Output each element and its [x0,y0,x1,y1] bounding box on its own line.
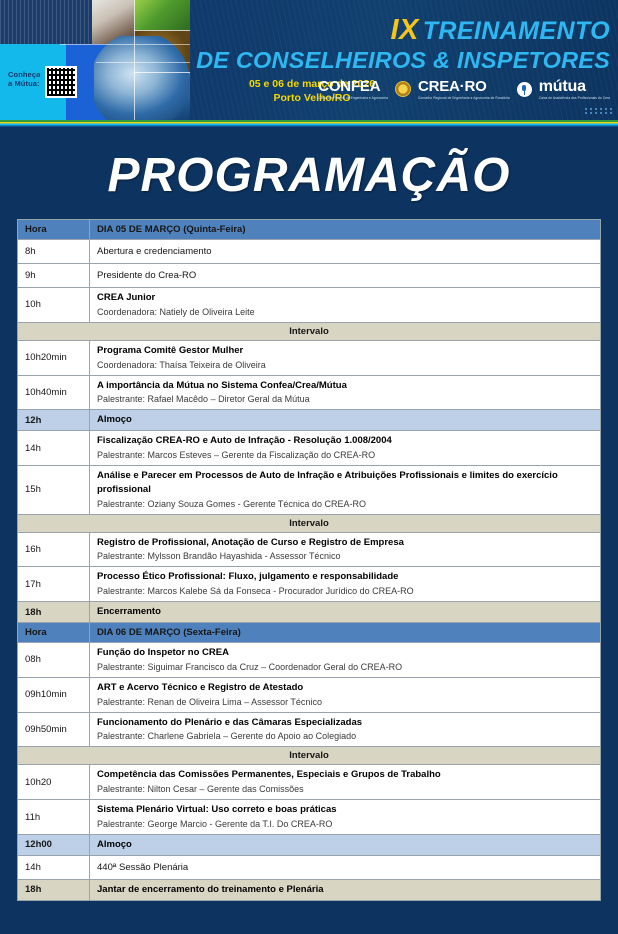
mutua-logo: mútua Caixa de Assistência dos Profissio… [539,78,610,100]
schedule-row-speaker: Palestrante: Renan de Oliveira Lima – As… [97,696,593,709]
schedule-row-content: Funcionamento do Plenário e das Câmaras … [90,712,601,747]
schedule-row-content: Abertura e credenciamento [90,240,601,264]
mutua-call-to-action: Conheça a Mútua: [8,70,40,89]
mutua-cta-line-2: a Mútua: [8,79,40,88]
schedule-row: 9hPresidente do Crea-RO [18,264,601,288]
schedule-row-time: 09h50min [18,712,90,747]
schedule-day-header: HoraDIA 05 DE MARÇO (Quinta-Feira) [18,220,601,240]
schedule-row-content: Sistema Plenário Virtual: Uso correto e … [90,800,601,835]
schedule-row: 14h 440ª Sessão Plenária [18,855,601,879]
schedule-row: 14hFiscalização CREA-RO e Auto de Infraç… [18,431,601,466]
schedule-row-content: Fiscalização CREA-RO e Auto de Infração … [90,431,601,466]
qr-code[interactable] [45,66,77,98]
schedule-row-content: Encerramento [90,602,601,623]
banner-color-stripe [0,120,618,127]
confea-logo: CONFEA Conselho Federal de Engenharia e … [318,78,388,100]
schedule-row-speaker: Coordenadora: Thaísa Teixeira de Oliveir… [97,359,593,372]
crearo-logo: CREA·RO Conselho Regional de Engenharia … [418,78,510,100]
schedule-row: 12hAlmoço [18,410,601,431]
collage-divider-line-3 [134,30,190,31]
schedule-row: 18hEncerramento [18,602,601,623]
schedule-row-content: CREA JuniorCoordenadora: Natiely de Oliv… [90,288,601,323]
schedule-row: 10h40minA importância da Mútua no Sistem… [18,375,601,410]
schedule-row-speaker: Coordenadora: Natiely de Oliveira Leite [97,306,593,319]
schedule-row-title: Competência das Comissões Permanentes, E… [97,768,593,782]
schedule-row-speaker: Palestrante: George Marcio - Gerente da … [97,818,593,831]
schedule-break-row: Intervalo [18,514,601,532]
crearo-logo-subtitle: Conselho Regional de Engenharia e Agrono… [418,96,510,100]
schedule-row-time: 18h [18,879,90,900]
schedule-row-title: Funcionamento do Plenário e das Câmaras … [97,716,593,730]
schedule-row-title: Almoço [97,838,593,852]
decorative-dots [585,108,613,114]
schedule-row-title: Sistema Plenário Virtual: Uso correto e … [97,803,593,817]
mutua-logo-text: mútua [539,78,586,95]
day-header-title: DIA 06 DE MARÇO (Sexta-Feira) [90,622,601,642]
schedule-row-time: 10h20 [18,765,90,800]
collage-hatch-panel [0,0,92,44]
schedule-body: HoraDIA 05 DE MARÇO (Quinta-Feira)8hAber… [18,220,601,901]
schedule-row-title: Função do Inspetor no CREA [97,646,593,660]
schedule-row: 12h00Almoço [18,835,601,856]
schedule-row-title: CREA Junior [97,291,593,305]
schedule-row: 10h20minPrograma Comitê Gestor MulherCoo… [18,340,601,375]
confea-logo-text: CONFEA [318,78,380,95]
seal-icon [395,81,411,97]
schedule-row-content: Função do Inspetor no CREAPalestrante: S… [90,642,601,677]
schedule-row: 18hJantar de encerramento do treinamento… [18,879,601,900]
schedule-row: 15hAnálise e Parecer em Processos de Aut… [18,466,601,515]
schedule-row-time: 11h [18,800,90,835]
break-label: Intervalo [18,747,601,765]
schedule-row-time: 18h [18,602,90,623]
schedule-row-content: A importância da Mútua no Sistema Confea… [90,375,601,410]
schedule-row-speaker: Palestrante: Oziany Souza Gomes - Gerent… [97,498,593,511]
schedule-container: HoraDIA 05 DE MARÇO (Quinta-Feira)8hAber… [0,203,618,901]
schedule-row-content: Processo Ético Profissional: Fluxo, julg… [90,567,601,602]
schedule-row-time: 14h [18,855,90,879]
schedule-row-content: Registro de Profissional, Anotação de Cu… [90,532,601,567]
schedule-row-title: ART e Acervo Técnico e Registro de Atest… [97,681,593,695]
schedule-row: 8hAbertura e credenciamento [18,240,601,264]
schedule-row-content: Competência das Comissões Permanentes, E… [90,765,601,800]
schedule-row: 10h20Competência das Comissões Permanent… [18,765,601,800]
schedule-row-time: 14h [18,431,90,466]
schedule-row-time: 9h [18,264,90,288]
schedule-row-title: A importância da Mútua no Sistema Confea… [97,379,593,393]
schedule-row: 09h10minART e Acervo Técnico e Registro … [18,677,601,712]
qr-code-pattern [47,68,75,96]
mutua-mark-icon [517,82,532,97]
break-label: Intervalo [18,322,601,340]
schedule-row-speaker: Palestrante: Rafael Macêdo – Diretor Ger… [97,393,593,406]
confea-logo-subtitle: Conselho Federal de Engenharia e Agronom… [318,96,388,100]
schedule-row-title: Almoço [97,413,593,427]
schedule-row: 16hRegistro de Profissional, Anotação de… [18,532,601,567]
schedule-row-title: Registro de Profissional, Anotação de Cu… [97,536,593,550]
schedule-row-speaker: Palestrante: Mylsson Brandão Hayashida -… [97,550,593,563]
schedule-row-time: 8h [18,240,90,264]
collage-photo-agriculture [134,0,190,30]
mutua-logo-subtitle: Caixa de Assistência dos Profissionais d… [539,96,610,100]
banner-title-line-2: DE CONSELHEIROS & INSPETORES [196,47,610,74]
collage-divider-line-2 [60,44,190,45]
schedule-row-content: Almoço [90,835,601,856]
schedule-row-title: Presidente do Crea-RO [97,270,593,281]
schedule-row-content: ART e Acervo Técnico e Registro de Atest… [90,677,601,712]
event-banner: Conheça a Mútua: IXTREINAMENTO DE CONSEL… [0,0,618,120]
schedule-row-content: Programa Comitê Gestor MulherCoordenador… [90,340,601,375]
crearo-logo-text: CREA·RO [418,78,487,95]
schedule-row-title: Encerramento [97,605,593,619]
collage-divider-line [96,62,190,63]
schedule-row-time: 09h10min [18,677,90,712]
schedule-row-time: 15h [18,466,90,515]
day-header-title: DIA 05 DE MARÇO (Quinta-Feira) [90,220,601,240]
schedule-row: 17hProcesso Ético Profissional: Fluxo, j… [18,567,601,602]
page-title: PROGRAMAÇÃO [0,148,618,203]
schedule-row: 08hFunção do Inspetor no CREAPalestrante… [18,642,601,677]
schedule-row-speaker: Palestrante: Charlene Gabriela – Gerente… [97,730,593,743]
sponsor-logos: CONFEA Conselho Federal de Engenharia e … [318,78,610,100]
schedule-row-time: 10h40min [18,375,90,410]
schedule-row: 09h50minFuncionamento do Plenário e das … [18,712,601,747]
schedule-row-time: 10h [18,288,90,323]
schedule-row-time: 17h [18,567,90,602]
collage-divider-line-4 [134,72,190,73]
banner-title-block: IXTREINAMENTO DE CONSELHEIROS & INSPETOR… [196,16,610,74]
schedule-row-title: Abertura e credenciamento [97,246,593,257]
day-header-time-label: Hora [18,220,90,240]
schedule-row-time: 08h [18,642,90,677]
schedule-row-title: Jantar de encerramento do treinamento e … [97,883,593,897]
schedule-row-time: 12h [18,410,90,431]
schedule-row: 10hCREA JuniorCoordenadora: Natiely de O… [18,288,601,323]
collage-photo-face [94,36,190,120]
schedule-row-time: 10h20min [18,340,90,375]
banner-photo-collage [0,0,190,120]
schedule-break-row: Intervalo [18,747,601,765]
day-header-time-label: Hora [18,622,90,642]
schedule-row-title: Processo Ético Profissional: Fluxo, julg… [97,570,593,584]
schedule-table: HoraDIA 05 DE MARÇO (Quinta-Feira)8hAber… [17,219,601,901]
schedule-row-content: Presidente do Crea-RO [90,264,601,288]
schedule-row-content: Análise e Parecer em Processos de Auto d… [90,466,601,515]
schedule-row-title: Fiscalização CREA-RO e Auto de Infração … [97,434,593,448]
schedule-row: 11hSistema Plenário Virtual: Uso correto… [18,800,601,835]
schedule-row-content: 440ª Sessão Plenária [90,855,601,879]
schedule-row-title: Análise e Parecer em Processos de Auto d… [97,469,593,497]
mutua-cta-line-1: Conheça [8,70,40,79]
schedule-row-title: Programa Comitê Gestor Mulher [97,344,593,358]
schedule-row-speaker: Palestrante: Marcos Kalebe Sá da Fonseca… [97,585,593,598]
schedule-day-header: HoraDIA 06 DE MARÇO (Sexta-Feira) [18,622,601,642]
schedule-row-speaker: Palestrante: Nilton Cesar – Gerente das … [97,783,593,796]
collage-divider-vertical [134,0,135,120]
banner-title-line-1: IXTREINAMENTO [196,16,610,45]
schedule-break-row: Intervalo [18,322,601,340]
schedule-row-content: Almoço [90,410,601,431]
schedule-row-speaker: Palestrante: Siguimar Francisco da Cruz … [97,661,593,674]
schedule-row-time: 16h [18,532,90,567]
schedule-row-speaker: Palestrante: Marcos Esteves – Gerente da… [97,449,593,462]
break-label: Intervalo [18,514,601,532]
schedule-row-title: 440ª Sessão Plenária [97,862,593,873]
edition-roman-numeral: IX [391,14,419,46]
schedule-row-time: 12h00 [18,835,90,856]
banner-title-text-1: TREINAMENTO [423,17,610,45]
schedule-row-content: Jantar de encerramento do treinamento e … [90,879,601,900]
